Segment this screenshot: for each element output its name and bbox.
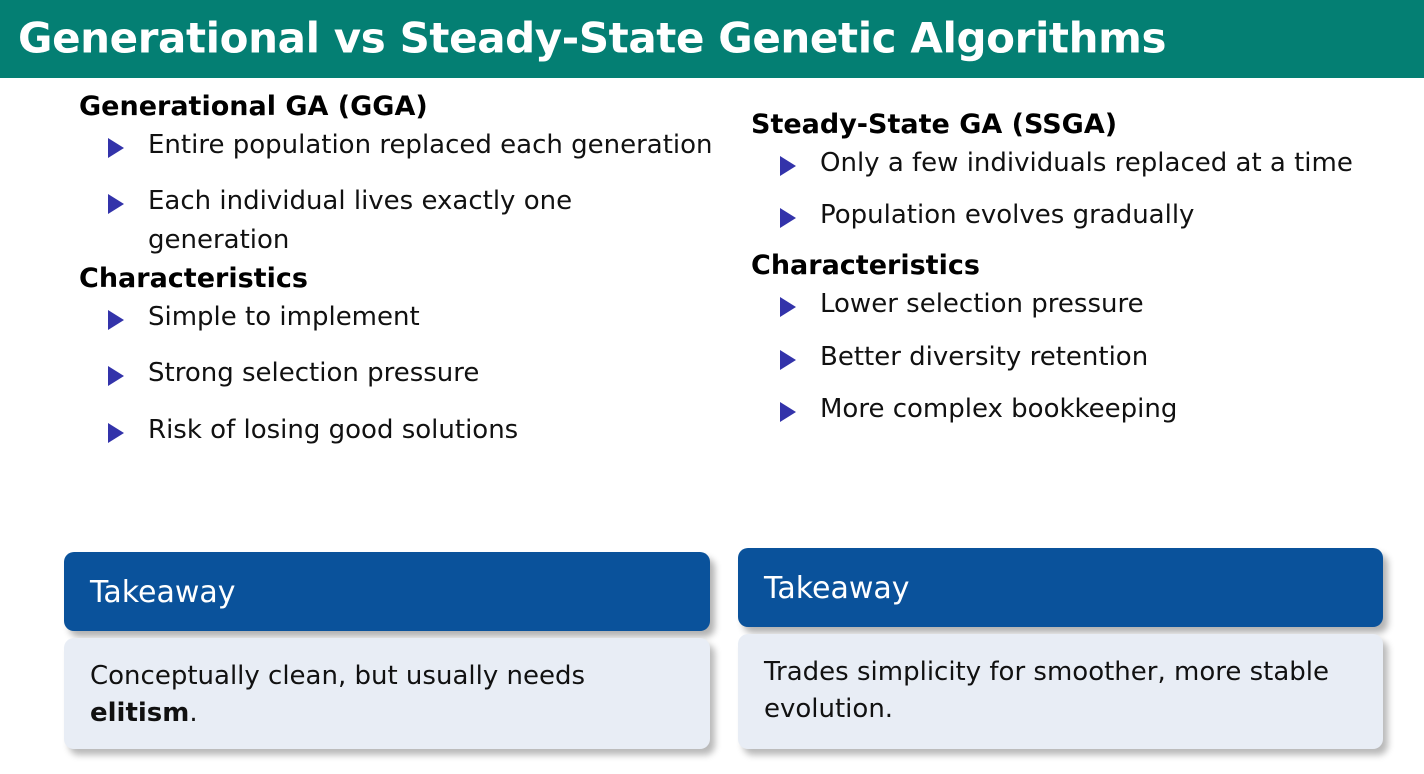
right-takeaway-block: Takeaway Trades simplicity for smoother,…	[738, 548, 1383, 749]
list-item-label: Simple to implement	[148, 302, 420, 332]
right-column: Steady-State GA (SSGA) Only a few indivi…	[736, 108, 1396, 443]
right-takeaway-text: Trades simplicity for smoother, more sta…	[738, 634, 1383, 749]
right-column-bullet-list: Only a few individuals replaced at a tim…	[736, 144, 1396, 235]
list-item: More complex bookkeeping	[736, 390, 1396, 429]
list-item-label: More complex bookkeeping	[820, 394, 1177, 424]
left-takeaway-text-bold: elitism	[90, 698, 189, 728]
right-column-heading: Steady-State GA (SSGA)	[751, 108, 1396, 142]
list-item: Better diversity retention	[736, 338, 1396, 377]
list-item: Simple to implement	[64, 298, 714, 337]
left-takeaway-block: Takeaway Conceptually clean, but usually…	[64, 552, 710, 749]
list-item-label: Population evolves gradually	[820, 200, 1194, 230]
right-takeaway-title: Takeaway	[738, 548, 1383, 627]
list-item-label: Each individual lives exactly one genera…	[148, 186, 572, 255]
triangle-bullet-icon	[108, 423, 124, 443]
list-item: Lower selection pressure	[736, 285, 1396, 324]
triangle-bullet-icon	[108, 138, 124, 158]
triangle-bullet-icon	[780, 350, 796, 370]
triangle-bullet-icon	[108, 310, 124, 330]
left-column-characteristics-list: Simple to implement Strong selection pre…	[64, 298, 714, 450]
list-item-label: Risk of losing good solutions	[148, 415, 518, 445]
list-item: Risk of losing good solutions	[64, 411, 714, 450]
slide-title-bar: Generational vs Steady-State Genetic Alg…	[0, 0, 1424, 78]
left-takeaway-text-after: .	[189, 698, 197, 728]
triangle-bullet-icon	[780, 208, 796, 228]
list-item-label: Lower selection pressure	[820, 289, 1144, 319]
left-takeaway-text: Conceptually clean, but usually needs el…	[64, 638, 710, 749]
list-item-label: Better diversity retention	[820, 342, 1148, 372]
right-column-subheading: Characteristics	[751, 249, 1396, 283]
right-takeaway-text-before: Trades simplicity for smoother, more sta…	[764, 657, 1329, 724]
left-column-subheading: Characteristics	[79, 262, 714, 296]
list-item: Only a few individuals replaced at a tim…	[736, 144, 1396, 183]
page-title: Generational vs Steady-State Genetic Alg…	[18, 14, 1166, 63]
triangle-bullet-icon	[108, 194, 124, 214]
list-item: Each individual lives exactly one genera…	[64, 182, 714, 259]
left-takeaway-text-before: Conceptually clean, but usually needs	[90, 661, 585, 691]
left-column-heading: Generational GA (GGA)	[79, 90, 714, 124]
triangle-bullet-icon	[780, 156, 796, 176]
list-item-label: Strong selection pressure	[148, 358, 479, 388]
list-item: Strong selection pressure	[64, 354, 714, 393]
triangle-bullet-icon	[780, 297, 796, 317]
list-item-label: Only a few individuals replaced at a tim…	[820, 148, 1353, 178]
list-item: Entire population replaced each generati…	[64, 126, 714, 165]
right-column-characteristics-list: Lower selection pressure Better diversit…	[736, 285, 1396, 429]
triangle-bullet-icon	[108, 366, 124, 386]
list-item-label: Entire population replaced each generati…	[148, 130, 713, 160]
left-takeaway-title: Takeaway	[64, 552, 710, 631]
list-item: Population evolves gradually	[736, 196, 1396, 235]
triangle-bullet-icon	[780, 402, 796, 422]
left-column-bullet-list: Entire population replaced each generati…	[64, 126, 714, 260]
left-column: Generational GA (GGA) Entire population …	[64, 90, 714, 450]
